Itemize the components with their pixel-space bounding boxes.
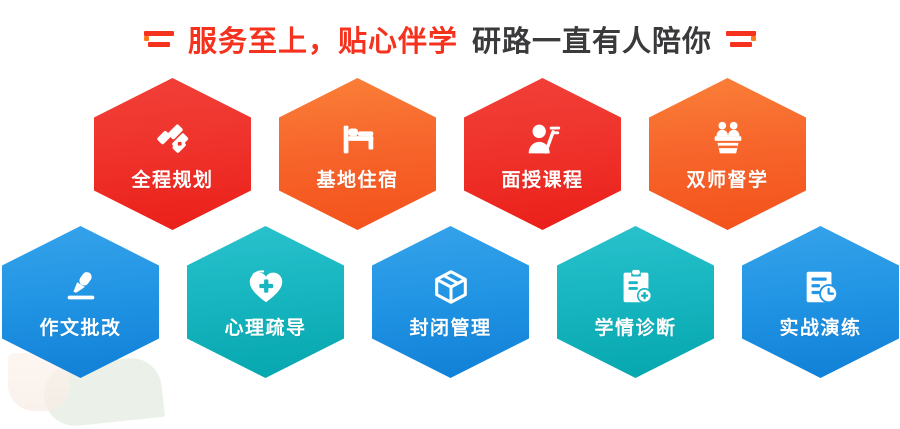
- feature-hex-learning-diagnosis[interactable]: 学情诊断: [557, 226, 714, 378]
- feature-hex-practical-drill[interactable]: 实战演练: [742, 226, 899, 378]
- heart-plus-icon: [244, 265, 288, 309]
- double-bar-decoration-icon-right: [726, 26, 760, 52]
- feature-hex-face-to-face-course[interactable]: 面授课程: [464, 78, 621, 230]
- feature-hex-psychological-counseling[interactable]: 心理疏导: [187, 226, 344, 378]
- pen-underline-icon: [59, 265, 103, 309]
- feature-hex-essay-correction[interactable]: 作文批改: [2, 226, 159, 378]
- two-people-podium-icon: [706, 117, 750, 161]
- feature-hex-dual-teacher-supervision[interactable]: 双师督学: [649, 78, 806, 230]
- feature-label: 全程规划: [131, 165, 213, 192]
- feature-label: 作文批改: [39, 313, 121, 340]
- feature-label: 心理疏导: [224, 313, 306, 340]
- headline-normal-text: 研路一直有人陪你: [472, 18, 712, 60]
- headline-highlight-text: 服务至上，贴心伴学: [188, 18, 458, 60]
- bed-icon: [336, 117, 380, 161]
- feature-label: 面授课程: [501, 165, 583, 192]
- feature-hex-full-planning[interactable]: 全程规划: [94, 78, 251, 230]
- feature-hexagon-grid: 全程规划 基地住宿 面授课程: [0, 78, 900, 405]
- feature-label: 基地住宿: [316, 165, 398, 192]
- teacher-pointer-icon: [521, 117, 565, 161]
- feature-label: 实战演练: [779, 313, 861, 340]
- document-clock-icon: [799, 265, 843, 309]
- double-bar-decoration-icon: [140, 26, 174, 52]
- clipboard-plus-icon: [614, 265, 658, 309]
- package-box-icon: [429, 265, 473, 309]
- feature-label: 学情诊断: [594, 313, 676, 340]
- headline-banner: 服务至上，贴心伴学 研路一直有人陪你: [0, 18, 900, 60]
- crossed-pen-ruler-icon: [151, 117, 195, 161]
- feature-hex-closed-management[interactable]: 封闭管理: [372, 226, 529, 378]
- feature-label: 双师督学: [686, 165, 768, 192]
- feature-hex-base-accommodation[interactable]: 基地住宿: [279, 78, 436, 230]
- feature-label: 封闭管理: [409, 313, 491, 340]
